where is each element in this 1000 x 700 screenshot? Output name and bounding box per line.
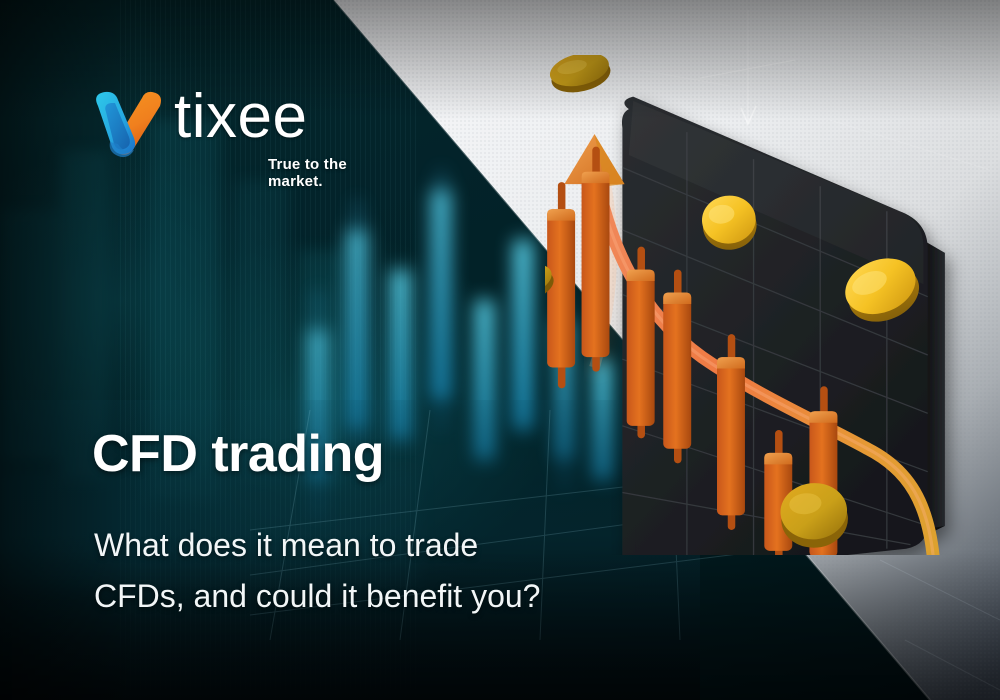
page-subtitle-line-1: What does it mean to trade: [94, 520, 540, 571]
page-title: CFD trading: [92, 424, 384, 484]
page-subtitle-line-2: CFDs, and could it benefit you?: [94, 571, 540, 622]
page-subtitle: What does it mean to trade CFDs, and cou…: [94, 520, 540, 622]
tixee-v-logo-icon: [88, 82, 166, 160]
brand-tagline: True to the market.: [268, 156, 388, 190]
brand-logo[interactable]: tixee True to the market.: [88, 78, 388, 178]
cfd-trading-banner: tixee True to the market. CFD trading Wh…: [0, 0, 1000, 700]
brand-wordmark: tixee: [174, 78, 307, 156]
